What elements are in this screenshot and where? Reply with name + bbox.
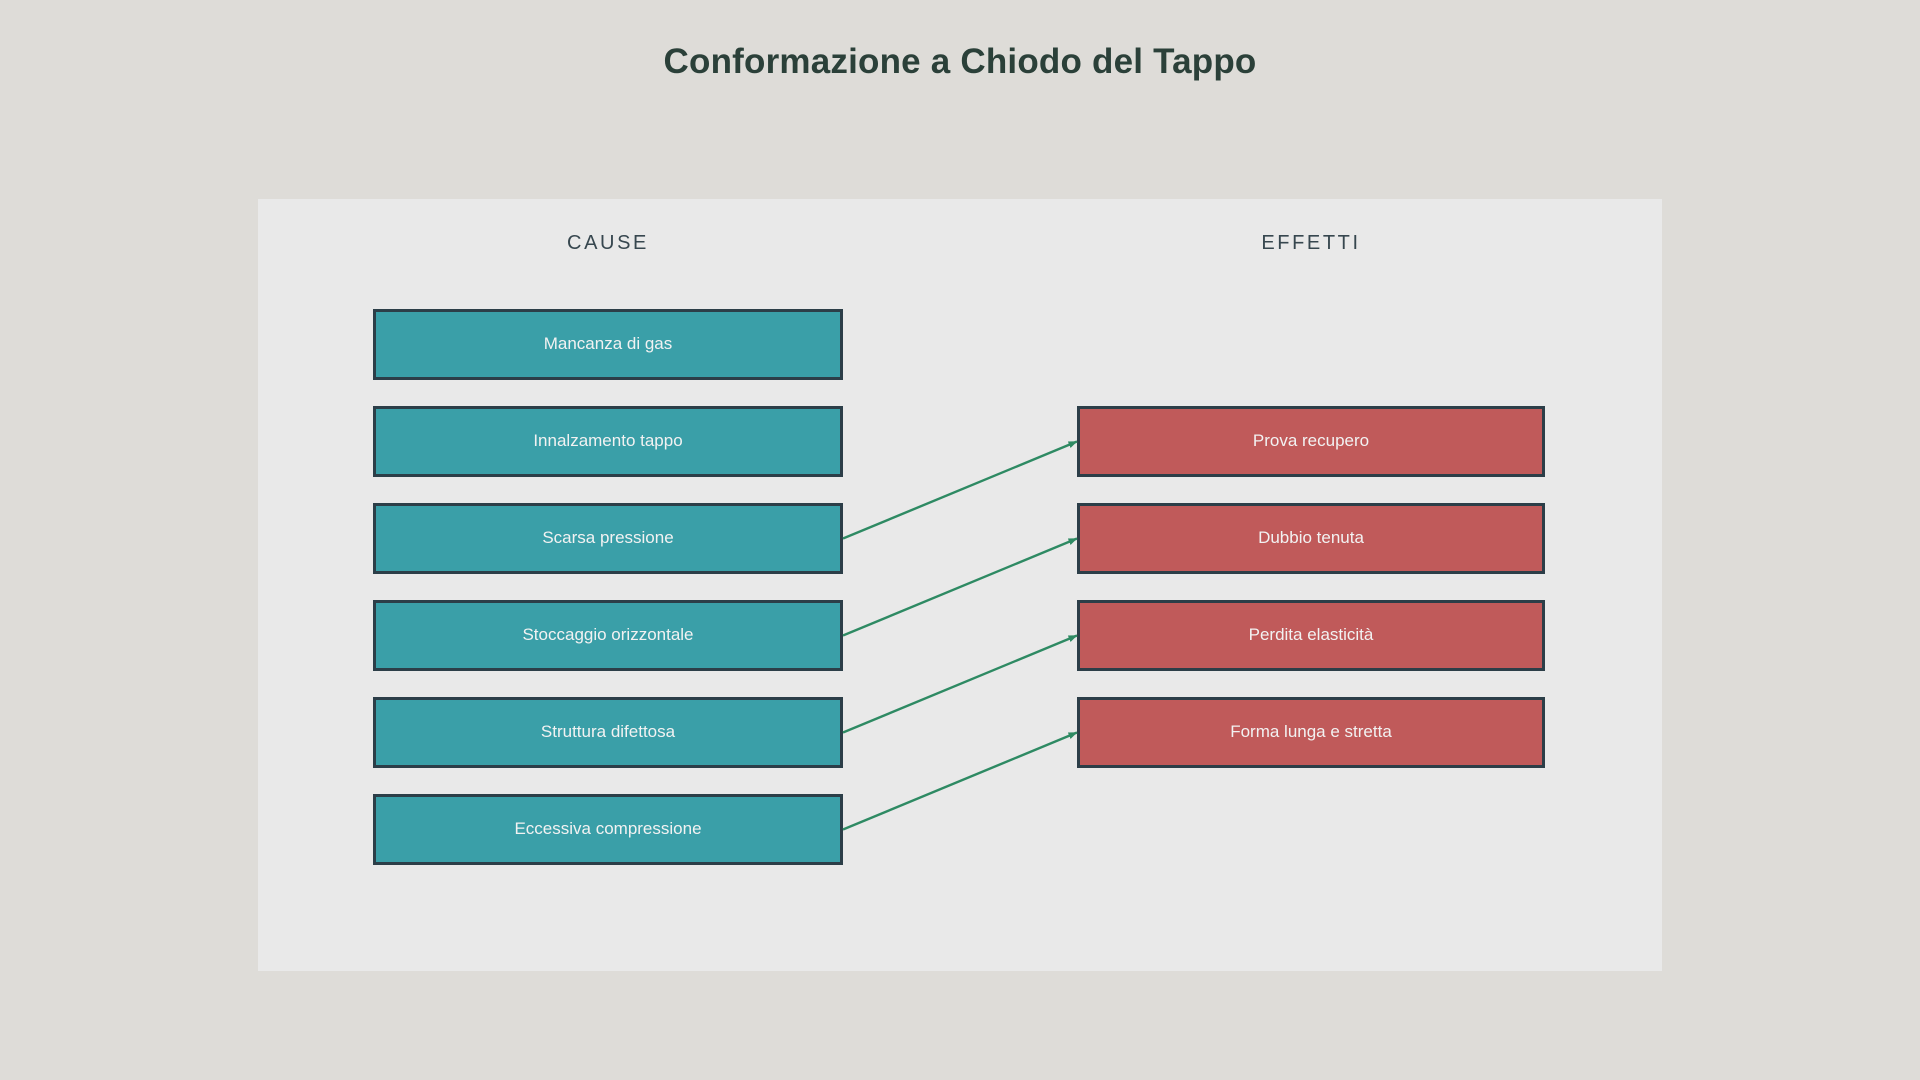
effect-node-forma-lunga-e-stretta[interactable]: Forma lunga e stretta: [1077, 697, 1545, 768]
effect-node-label: Perdita elasticità: [1249, 625, 1374, 645]
cause-node-label: Eccessiva compressione: [514, 819, 701, 839]
page-title: Conformazione a Chiodo del Tappo: [0, 42, 1920, 82]
cause-node-mancanza-di-gas[interactable]: Mancanza di gas: [373, 309, 843, 380]
effect-node-perdita-elasticita[interactable]: Perdita elasticità: [1077, 600, 1545, 671]
column-header-effetti: EFFETTI: [1077, 232, 1545, 255]
cause-node-label: Scarsa pressione: [542, 528, 673, 548]
effect-node-label: Prova recupero: [1253, 431, 1369, 451]
effect-node-dubbio-tenuta[interactable]: Dubbio tenuta: [1077, 503, 1545, 574]
cause-node-innalzamento-tappo[interactable]: Innalzamento tappo: [373, 406, 843, 477]
effect-node-prova-recupero[interactable]: Prova recupero: [1077, 406, 1545, 477]
cause-node-stoccaggio-orizzontale[interactable]: Stoccaggio orizzontale: [373, 600, 843, 671]
cause-node-eccessiva-compressione[interactable]: Eccessiva compressione: [373, 794, 843, 865]
column-header-cause: CAUSE: [373, 232, 843, 255]
cause-node-label: Struttura difettosa: [541, 722, 675, 742]
effect-node-label: Forma lunga e stretta: [1230, 722, 1392, 742]
cause-node-struttura-difettosa[interactable]: Struttura difettosa: [373, 697, 843, 768]
effect-node-label: Dubbio tenuta: [1258, 528, 1364, 548]
cause-node-scarsa-pressione[interactable]: Scarsa pressione: [373, 503, 843, 574]
cause-node-label: Stoccaggio orizzontale: [522, 625, 693, 645]
cause-node-label: Innalzamento tappo: [533, 431, 682, 451]
cause-node-label: Mancanza di gas: [544, 334, 673, 354]
